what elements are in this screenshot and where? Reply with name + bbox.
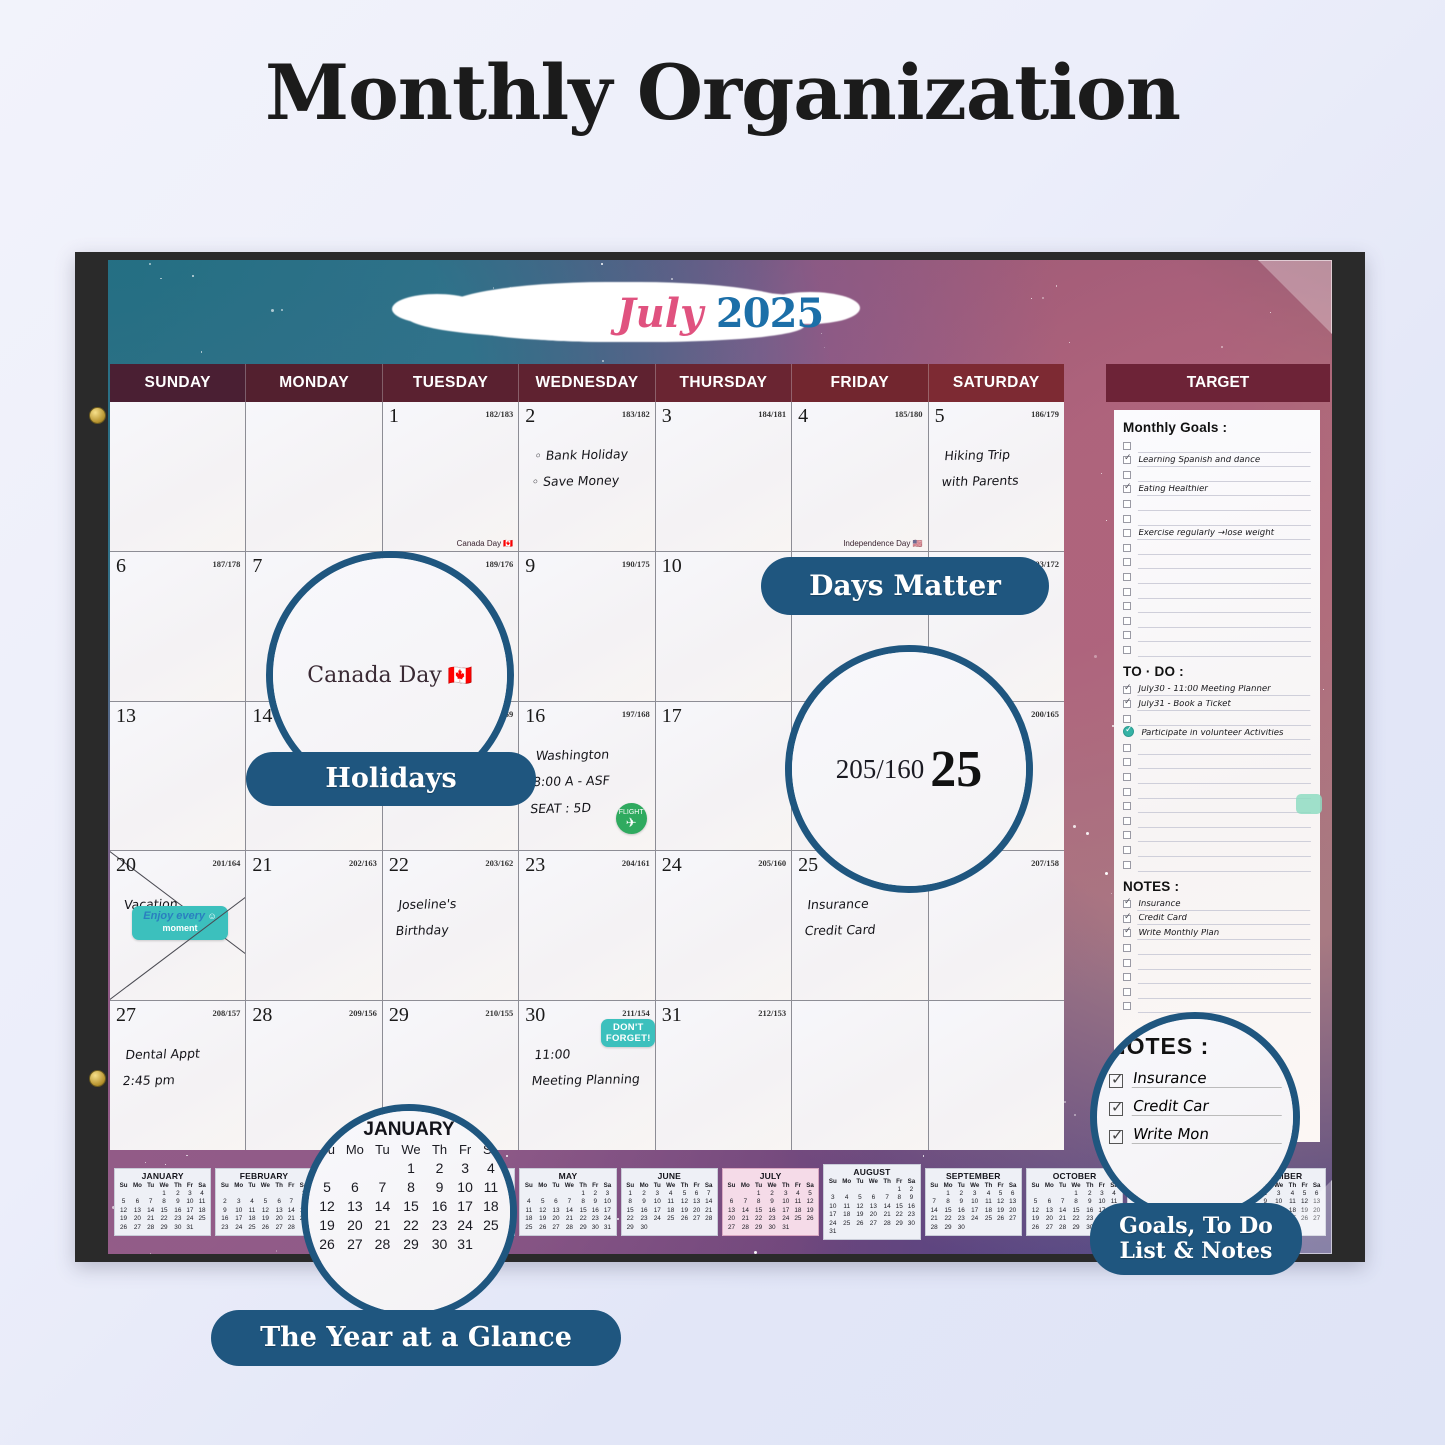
note-text[interactable]	[1138, 953, 1311, 955]
goal-row[interactable]	[1123, 511, 1311, 526]
day-number: 21	[252, 854, 272, 877]
todo-row[interactable]: July30 - 11:00 Meeting Planner	[1123, 682, 1311, 697]
monthly-goals-title: Monthly Goals :	[1123, 420, 1311, 435]
note-text[interactable]	[1138, 982, 1311, 984]
day-number: 9	[525, 555, 535, 578]
goal-checkbox[interactable]	[1123, 529, 1131, 537]
mini-day: 11	[246, 1207, 258, 1215]
todo-checkbox[interactable]	[1123, 686, 1131, 694]
holidays-zoom-text: Canada Day	[307, 663, 442, 688]
note-checkbox[interactable]	[1123, 973, 1131, 981]
note-text[interactable]	[1138, 997, 1311, 999]
note-checkbox[interactable]	[1123, 988, 1131, 996]
todo-row[interactable]	[1123, 769, 1311, 784]
mini-day: 21	[562, 1215, 577, 1223]
todo-row[interactable]: July31 - Book a Ticket	[1123, 697, 1311, 712]
calendar-cell-empty[interactable]	[929, 1001, 1064, 1150]
note-text[interactable]	[1138, 968, 1311, 970]
mini-day: 19	[1029, 1215, 1042, 1223]
goal-text[interactable]	[1138, 582, 1311, 584]
mini-weekday: Th	[273, 1182, 285, 1190]
target-header: TARGET	[1106, 364, 1330, 402]
year-zoom-day: 31	[452, 1234, 478, 1253]
todo-row[interactable]	[1123, 828, 1311, 843]
day-count-fraction: 212/153	[758, 1008, 786, 1018]
mini-day: 7	[881, 1194, 893, 1202]
calendar-cell-1[interactable]: 1182/183Canada Day 🇨🇦	[383, 402, 518, 551]
year-glance-magnifier: JANUARY SuMoTuWeThFrSa123456789101112131…	[301, 1104, 517, 1320]
mini-day: 26	[804, 1215, 817, 1223]
calendar-cell-9[interactable]: 9190/175	[519, 552, 654, 701]
day-count-fraction: 189/176	[485, 559, 513, 569]
handwritten-note: Bank HolidaySave Money	[531, 441, 650, 496]
mini-day: 14	[145, 1207, 157, 1215]
mini-day: 30	[955, 1224, 967, 1232]
callout-notes-line1: Goals, To Do	[1119, 1214, 1273, 1239]
todo-text[interactable]	[1138, 753, 1311, 755]
goal-row[interactable]: Eating Healthier	[1123, 482, 1311, 497]
todo-text[interactable]	[1138, 826, 1311, 828]
todo-checkbox[interactable]	[1123, 788, 1131, 796]
mini-day: 2	[905, 1186, 918, 1194]
todo-row[interactable]: Participate in volunteer Activities	[1123, 726, 1311, 741]
goal-checkbox[interactable]	[1123, 631, 1131, 639]
goal-checkbox[interactable]	[1123, 544, 1131, 552]
mini-day: 8	[753, 1198, 765, 1206]
year-zoom-day: 25	[478, 1215, 504, 1234]
goal-text[interactable]	[1138, 597, 1311, 599]
mini-weekday: Tu	[550, 1182, 562, 1190]
mini-day: 4	[839, 1194, 854, 1202]
year-zoom-weekday: Th	[427, 1141, 453, 1158]
calendar-cell-31[interactable]: 31212/153	[656, 1001, 791, 1150]
day-number: 5	[935, 405, 945, 428]
mini-day: 15	[893, 1203, 905, 1211]
mini-day: 26	[995, 1215, 1007, 1223]
day-count-fraction: 184/181	[758, 409, 786, 419]
year-zoom-day: 20	[340, 1215, 370, 1234]
mini-day: 9	[218, 1207, 231, 1215]
goal-text[interactable]	[1138, 626, 1311, 628]
goal-checkbox[interactable]	[1123, 646, 1131, 654]
goal-checkbox[interactable]	[1123, 573, 1131, 581]
todo-checkbox[interactable]	[1123, 861, 1131, 869]
todo-checkbox[interactable]	[1123, 817, 1131, 825]
mini-day: 7	[145, 1198, 157, 1206]
day-number: 16	[525, 705, 545, 728]
year-zoom-day: 13	[340, 1196, 370, 1215]
calendar-cell-22[interactable]: 22203/162Joseline'sBirthday	[383, 851, 518, 1000]
mini-day: 16	[172, 1207, 184, 1215]
mini-weekday: We	[258, 1182, 273, 1190]
year-zoom-day: 27	[340, 1234, 370, 1253]
note-checkbox[interactable]	[1123, 900, 1131, 908]
mini-weekday: Tu	[1057, 1182, 1069, 1190]
mini-day: 12	[804, 1198, 817, 1206]
mini-day: 6	[550, 1198, 562, 1206]
monthly-goals-list[interactable]: Learning Spanish and danceEating Healthi…	[1123, 438, 1311, 657]
mini-day: 18	[792, 1207, 804, 1215]
mini-day: 30	[764, 1224, 779, 1232]
note-text[interactable]: Insurance	[1137, 900, 1312, 911]
goal-checkbox[interactable]	[1123, 471, 1131, 479]
mini-day: 31	[780, 1224, 792, 1232]
mini-day: 24	[231, 1224, 246, 1232]
calendar-cell-empty[interactable]	[246, 402, 381, 551]
year-zoom-day: 5	[314, 1177, 340, 1196]
goal-row[interactable]: Learning Spanish and dance	[1123, 453, 1311, 468]
day-count-fraction: 183/182	[622, 409, 650, 419]
mini-weekday: Fr	[691, 1182, 703, 1190]
day-count-fraction: 208/157	[213, 1008, 241, 1018]
weekday-header-row: SUNDAYMONDAYTUESDAYWEDNESDAYTHURSDAYFRID…	[110, 364, 1064, 402]
mini-day: 19	[117, 1215, 130, 1223]
mini-day: 10	[780, 1198, 792, 1206]
mini-day: 12	[678, 1198, 690, 1206]
day-number: 31	[662, 1004, 682, 1027]
handwritten-note: Dental Appt2:45 pm	[121, 1040, 240, 1095]
mini-day: 29	[893, 1220, 905, 1228]
note-checkbox[interactable]	[1123, 1002, 1131, 1010]
todo-checkbox[interactable]	[1123, 715, 1131, 723]
goal-text[interactable]: Eating Healthier	[1137, 485, 1312, 496]
mini-day: 8	[624, 1198, 637, 1206]
mini-day: 12	[995, 1198, 1007, 1206]
mini-day: 29	[941, 1224, 956, 1232]
callout-notes-line2: List & Notes	[1119, 1239, 1273, 1264]
mini-weekday: Th	[1084, 1182, 1096, 1190]
goal-checkbox[interactable]	[1123, 558, 1131, 566]
mini-day: 13	[1042, 1207, 1057, 1215]
weekday-header-saturday: SATURDAY	[929, 364, 1064, 402]
year-zoom-weekday: We	[395, 1141, 427, 1158]
mini-day: 13	[1006, 1198, 1019, 1206]
goal-row[interactable]	[1123, 540, 1311, 555]
mini-day: 3	[231, 1198, 246, 1206]
goal-checkbox[interactable]	[1123, 588, 1131, 596]
note-line: Joseline's	[397, 890, 513, 918]
calendar-cell-13[interactable]: 13	[110, 702, 245, 851]
calendar-cell-4[interactable]: 4185/180Independence Day 🇺🇸	[792, 402, 927, 551]
mini-day: 10	[231, 1207, 246, 1215]
mini-day: 6	[130, 1198, 145, 1206]
todo-text[interactable]: July31 - Book a Ticket	[1137, 700, 1312, 711]
mini-day: 23	[589, 1215, 601, 1223]
mini-day: 20	[866, 1211, 881, 1219]
goal-row[interactable]	[1123, 613, 1311, 628]
goal-text[interactable]	[1138, 509, 1311, 511]
mini-day: 26	[854, 1220, 866, 1228]
goal-checkbox[interactable]	[1123, 456, 1131, 464]
goal-checkbox[interactable]	[1123, 500, 1131, 508]
mini-day: 3	[780, 1190, 792, 1198]
mini-day: 5	[804, 1190, 817, 1198]
note-checkbox[interactable]	[1123, 929, 1131, 937]
calendar-cell-6[interactable]: 6187/178	[110, 552, 245, 701]
mini-weekday: Sa	[1006, 1182, 1019, 1190]
year-zoom-day: 7	[370, 1177, 396, 1196]
goal-row[interactable]	[1123, 584, 1311, 599]
todo-text[interactable]	[1138, 811, 1311, 813]
calendar-cell-27[interactable]: 27208/157Dental Appt2:45 pm	[110, 1001, 245, 1150]
day-count-fraction: 209/156	[349, 1008, 377, 1018]
mini-day: 18	[663, 1207, 678, 1215]
goal-row[interactable]	[1123, 628, 1311, 643]
day-count-fraction: 190/175	[622, 559, 650, 569]
mini-month-name: JUNE	[624, 1171, 715, 1181]
todo-checkbox[interactable]	[1123, 744, 1131, 752]
note-line: Credit Card	[803, 917, 919, 945]
note-text[interactable]: Credit Card	[1137, 914, 1312, 925]
mini-day: 15	[1068, 1207, 1083, 1215]
goal-text[interactable]	[1138, 553, 1311, 555]
mini-day: 13	[866, 1203, 881, 1211]
goal-row[interactable]	[1123, 569, 1311, 584]
day-number: 14	[252, 705, 272, 728]
note-checkbox[interactable]	[1123, 944, 1131, 952]
year-zoom-day: 16	[427, 1196, 453, 1215]
goal-text[interactable]: Exercise regularly →lose weight	[1137, 529, 1312, 540]
todo-text[interactable]	[1138, 797, 1311, 799]
year-zoom-day: 18	[478, 1196, 504, 1215]
mini-day: 23	[955, 1215, 967, 1223]
day-count-fraction: 197/168	[622, 709, 650, 719]
todo-text[interactable]	[1138, 782, 1311, 784]
mini-day: 21	[285, 1215, 297, 1223]
mini-day: 17	[826, 1211, 839, 1219]
mini-day: 20	[725, 1215, 738, 1223]
note-row[interactable]	[1123, 955, 1311, 970]
mini-day: 1	[1068, 1190, 1083, 1198]
todo-checkbox[interactable]	[1123, 700, 1131, 708]
note-text[interactable]	[1138, 1011, 1311, 1013]
day-number: 2	[525, 405, 535, 428]
todo-row[interactable]	[1123, 799, 1311, 814]
mini-day: 1	[577, 1190, 589, 1198]
todo-text[interactable]: Participate in volunteer Activities	[1140, 729, 1312, 740]
day-count-fraction: 200/165	[1031, 709, 1059, 719]
goal-row[interactable]	[1123, 496, 1311, 511]
todo-row[interactable]	[1123, 755, 1311, 770]
notes-zoom-text: Credit Car	[1132, 1097, 1285, 1116]
mini-day: 20	[550, 1215, 562, 1223]
goal-text[interactable]	[1138, 451, 1311, 453]
note-line: Insurance	[806, 890, 922, 918]
goal-row[interactable]	[1123, 467, 1311, 482]
calendar-cell-17[interactable]: 17	[656, 702, 791, 851]
notes-list[interactable]: InsuranceCredit CardWrite Monthly Plan	[1123, 897, 1311, 1014]
sticker-enjoy-every-moment: Enjoy every ☺moment	[132, 906, 228, 940]
goal-row[interactable]	[1123, 555, 1311, 570]
year-zoom-weekday: Tu	[370, 1141, 396, 1158]
note-row[interactable]: Write Monthly Plan	[1123, 926, 1311, 941]
goal-text[interactable]	[1138, 611, 1311, 613]
goal-text[interactable]	[1138, 655, 1311, 657]
todo-checkbox[interactable]	[1123, 831, 1131, 839]
handwritten-note: 11:00Meeting Planning	[531, 1040, 650, 1095]
note-row[interactable]: Credit Card	[1123, 911, 1311, 926]
mini-day: 28	[881, 1220, 893, 1228]
mini-day: 2	[218, 1198, 231, 1206]
todo-text[interactable]	[1138, 855, 1311, 857]
note-row[interactable]	[1123, 984, 1311, 999]
mini-day: 9	[637, 1198, 652, 1206]
mini-day: 3	[826, 1194, 839, 1202]
mini-day: 28	[145, 1224, 157, 1232]
mini-day: 23	[905, 1211, 918, 1219]
todo-text[interactable]	[1138, 870, 1311, 872]
mini-weekday: Th	[1286, 1182, 1298, 1190]
mini-day: 22	[157, 1215, 172, 1223]
mini-day: 5	[1299, 1190, 1311, 1198]
calendar-cell-empty[interactable]	[110, 402, 245, 551]
note-text[interactable]: Write Monthly Plan	[1137, 929, 1312, 940]
handwritten-note: Hiking Tripwith Parents	[940, 441, 1059, 496]
note-checkbox[interactable]	[1123, 959, 1131, 967]
year-zoom-day: 28	[370, 1234, 396, 1253]
mini-weekday: Fr	[1096, 1182, 1108, 1190]
note-checkbox[interactable]	[1123, 915, 1131, 923]
weekday-header-tuesday: TUESDAY	[383, 364, 519, 402]
day-count-fraction: 205/160	[758, 858, 786, 868]
goal-row[interactable]	[1123, 438, 1311, 453]
mini-month-name: SEPTEMBER	[928, 1171, 1019, 1181]
goal-row[interactable]	[1123, 599, 1311, 614]
note-row[interactable]	[1123, 940, 1311, 955]
mini-day: 26	[1029, 1224, 1042, 1232]
goal-text[interactable]	[1138, 524, 1311, 526]
mini-day: 23	[637, 1215, 652, 1223]
todo-row[interactable]	[1123, 711, 1311, 726]
todo-row[interactable]	[1123, 784, 1311, 799]
mini-weekday: Sa	[196, 1182, 209, 1190]
notes-zoom-row: ✓Insurance	[1109, 1069, 1283, 1088]
sticker-line2: FORGET!	[601, 1034, 654, 1045]
calendar-cell-20[interactable]: 20201/164VacationEnjoy every ☺moment	[110, 851, 245, 1000]
mini-weekday: Mo	[637, 1182, 652, 1190]
mini-day: 24	[967, 1215, 982, 1223]
todo-row[interactable]	[1123, 842, 1311, 857]
goal-text[interactable]	[1138, 480, 1311, 482]
year-zoom-day: 6	[340, 1177, 370, 1196]
mini-day: 7	[702, 1190, 715, 1198]
mini-month-name: JANUARY	[117, 1171, 208, 1181]
todo-checkbox[interactable]	[1123, 758, 1131, 766]
todo-text[interactable]: July30 - 11:00 Meeting Planner	[1137, 685, 1312, 696]
todo-checkbox[interactable]	[1123, 773, 1131, 781]
calendar-cell-5[interactable]: 5186/179Hiking Tripwith Parents	[929, 402, 1064, 551]
calendar-masthead: July 2025	[108, 260, 1332, 364]
calendar-cell-empty[interactable]	[792, 1001, 927, 1150]
mini-day: 21	[1057, 1215, 1069, 1223]
goal-checkbox[interactable]	[1123, 442, 1131, 450]
mini-day: 15	[577, 1207, 589, 1215]
sticker-dont-forget: DON'TFORGET!	[601, 1019, 654, 1047]
note-line: 2:45 pm	[121, 1066, 237, 1094]
mini-day: 29	[157, 1224, 172, 1232]
mini-day: 1	[624, 1190, 637, 1198]
goal-checkbox[interactable]	[1123, 602, 1131, 610]
mini-day: 29	[1068, 1224, 1083, 1232]
year-number: 2025	[716, 290, 823, 337]
goal-checkbox[interactable]	[1123, 515, 1131, 523]
mini-day: 16	[218, 1215, 231, 1223]
mini-day: 3	[184, 1190, 196, 1198]
calendar-cell-16[interactable]: 16197/168Washington8:00 A - ASFSEAT : 5D…	[519, 702, 654, 851]
todo-text[interactable]	[1138, 724, 1311, 726]
calendar-cell-23[interactable]: 23204/161	[519, 851, 654, 1000]
mini-day: 22	[1068, 1215, 1083, 1223]
calendar-cell-3[interactable]: 3184/181	[656, 402, 791, 551]
todo-list[interactable]: July30 - 11:00 Meeting PlannerJuly31 - B…	[1123, 682, 1311, 872]
mini-day: 27	[273, 1224, 285, 1232]
day-count-fraction: 204/161	[622, 858, 650, 868]
hole-punch-top	[89, 407, 106, 424]
day-number: 1	[389, 405, 399, 428]
mini-day: 15	[941, 1207, 956, 1215]
mini-day: 7	[285, 1198, 297, 1206]
goal-checkbox[interactable]	[1123, 617, 1131, 625]
mini-day: 17	[651, 1207, 663, 1215]
todo-checkbox[interactable]	[1123, 846, 1131, 854]
mini-weekday: Tu	[753, 1182, 765, 1190]
calendar-cell-30[interactable]: 30211/15411:00Meeting PlanningDON'TFORGE…	[519, 1001, 654, 1150]
mini-day: 4	[982, 1190, 994, 1198]
year-zoom-day: 12	[314, 1196, 340, 1215]
mini-day: 14	[702, 1198, 715, 1206]
goal-text[interactable]: Learning Spanish and dance	[1137, 456, 1312, 467]
mini-day: 6	[866, 1194, 881, 1202]
mini-weekday: Su	[928, 1182, 941, 1190]
mini-day: 16	[955, 1207, 967, 1215]
goal-checkbox[interactable]	[1123, 485, 1131, 493]
calendar-cell-21[interactable]: 21202/163	[246, 851, 381, 1000]
mini-day: 5	[678, 1190, 690, 1198]
todo-checkbox[interactable]	[1123, 726, 1134, 737]
mini-day: 20	[691, 1207, 703, 1215]
note-row[interactable]: Insurance	[1123, 897, 1311, 912]
day-count-fraction: 185/180	[895, 409, 923, 419]
mini-day: 20	[1006, 1207, 1019, 1215]
mini-day: 10	[826, 1203, 839, 1211]
mini-day: 11	[792, 1198, 804, 1206]
goal-row[interactable]: Exercise regularly →lose weight	[1123, 526, 1311, 541]
note-row[interactable]	[1123, 970, 1311, 985]
day-number: 17	[662, 705, 682, 728]
year-zoom-day: 10	[452, 1177, 478, 1196]
mini-weekday: Su	[1029, 1182, 1042, 1190]
mini-day: 18	[246, 1215, 258, 1223]
airplane-icon: ✈	[626, 816, 637, 829]
todo-row[interactable]	[1123, 813, 1311, 828]
mini-day: 8	[941, 1198, 956, 1206]
goal-row[interactable]	[1123, 642, 1311, 657]
mini-day: 12	[535, 1207, 550, 1215]
todo-row[interactable]	[1123, 740, 1311, 755]
mini-day: 21	[702, 1207, 715, 1215]
todo-checkbox[interactable]	[1123, 802, 1131, 810]
sticker-flight: FLIGHT✈	[616, 803, 647, 834]
year-zoom-table: SuMoTuWeThFrSa12345678910111213141516171…	[314, 1141, 504, 1253]
mini-day: 5	[258, 1198, 273, 1206]
day-number: 13	[116, 705, 136, 728]
calendar-cell-24[interactable]: 24205/160	[656, 851, 791, 1000]
day-count-fraction: 202/163	[349, 858, 377, 868]
note-row[interactable]	[1123, 999, 1311, 1014]
mini-month-name: MAY	[522, 1171, 613, 1181]
calendar-cell-2[interactable]: 2183/182Bank HolidaySave Money	[519, 402, 654, 551]
todo-row[interactable]	[1123, 857, 1311, 872]
